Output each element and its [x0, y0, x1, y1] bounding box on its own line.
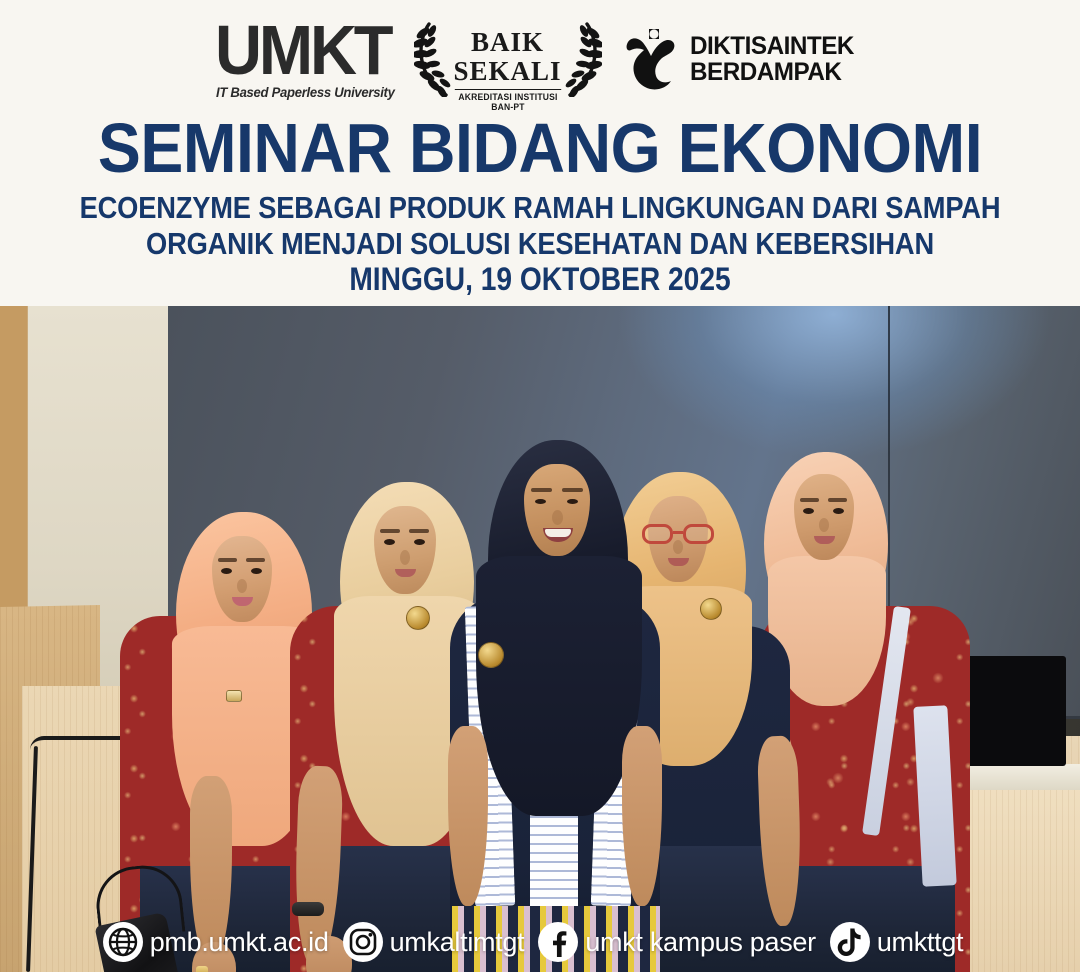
person-1-brow-l2	[218, 558, 237, 562]
event-date: MINGGU, 19 OKTOBER 2025	[65, 262, 1015, 296]
person-2-brooch	[406, 606, 430, 630]
instagram-handle[interactable]: umkaltimtgt	[390, 927, 525, 958]
baik-line2: SEKALI	[452, 58, 564, 85]
umkt-tagline: IT Based Paperless University	[216, 85, 395, 100]
person-2-watch	[292, 902, 324, 916]
person-1-brow-r2	[246, 558, 265, 562]
subtitle-line-2: ORGANIK MENJADI SOLUSI KESEHATAN DAN KEB…	[65, 226, 1015, 261]
person-3-hijab-drape	[476, 556, 642, 816]
person-2-brow-l2	[380, 529, 400, 533]
person-5-eye-l2	[803, 508, 814, 514]
subtitle-line-1: ECOENZYME SEBAGAI PRODUK RAMAH LINGKUNGA…	[65, 190, 1015, 225]
person-2-eye-l2	[384, 539, 395, 545]
diktisaintek-mark-icon	[618, 26, 680, 92]
social-item-tiktok[interactable]: umkttgt	[830, 922, 963, 962]
page-title: SEMINAR BIDANG EKONOMI	[43, 112, 1037, 184]
person-2-mouth2	[395, 569, 416, 577]
website-handle[interactable]: pmb.umkt.ac.id	[150, 927, 329, 958]
event-poster: UMKT IT Based Paperless University	[0, 0, 1080, 972]
person-5-brow-l2	[800, 498, 819, 502]
person-4-brooch	[700, 598, 722, 620]
person-5-eye-r2	[833, 508, 844, 514]
baik-line1: BAIK	[452, 29, 564, 56]
umkt-wordmark: UMKT	[215, 17, 390, 86]
facebook-icon[interactable]	[538, 922, 578, 962]
person-3-brow-right	[562, 488, 583, 492]
social-item-instagram[interactable]: umkaltimtgt	[343, 922, 525, 962]
person-4-glasses-icon	[642, 524, 714, 544]
diktisaintek-text: DIKTISAINTEK BERDAMPAK	[690, 33, 859, 85]
event-photo: pmb.umkt.ac.id umkaltimtgt	[0, 306, 1080, 972]
person-1-eye-l2	[221, 568, 232, 574]
baik-sekali-badge: BAIK SEKALI AKREDITASI INSTITUSI BAN-PT	[412, 15, 604, 103]
person-3-eye-right	[567, 499, 578, 504]
person-5-brow-r2	[828, 498, 847, 502]
person-3-brow-left	[531, 488, 552, 492]
person-1-nose2	[237, 579, 247, 593]
poster-header: UMKT IT Based Paperless University	[0, 0, 1080, 306]
person-1-hijab-pin	[226, 690, 242, 702]
person-3-eye-left	[535, 499, 546, 504]
person-2-brow-r2	[409, 529, 429, 533]
glasses-lens-right	[683, 524, 714, 544]
laurel-wreath-icon	[562, 21, 602, 97]
person-1-mouth2	[232, 597, 253, 606]
person-3-brooch	[478, 642, 504, 668]
social-item-website[interactable]: pmb.umkt.ac.id	[103, 922, 329, 962]
logo-row: UMKT IT Based Paperless University	[0, 14, 1080, 104]
person-1-eye-r2	[251, 568, 262, 574]
person-3-nose	[552, 510, 563, 525]
diktisaintek-line1: DIKTISAINTEK	[690, 33, 854, 59]
person-2-eye-r2	[414, 539, 425, 545]
person-5-mouth2	[814, 536, 835, 544]
laurel-wreath-icon	[414, 21, 454, 97]
globe-icon[interactable]	[103, 922, 143, 962]
instagram-icon[interactable]	[343, 922, 383, 962]
baik-sekali-text: BAIK SEKALI AKREDITASI INSTITUSI BAN-PT	[452, 29, 564, 112]
tiktok-handle[interactable]: umkttgt	[877, 927, 963, 958]
person-3-teeth	[545, 529, 571, 537]
tiktok-icon[interactable]	[830, 922, 870, 962]
social-bar: pmb.umkt.ac.id umkaltimtgt	[0, 922, 1080, 962]
diktisaintek-logo: DIKTISAINTEK BERDAMPAK	[618, 15, 868, 103]
diktisaintek-line2: BERDAMPAK	[690, 59, 854, 85]
facebook-handle[interactable]: umkt kampus paser	[585, 927, 816, 958]
glasses-bridge	[673, 531, 683, 534]
person-5-nose2	[819, 518, 829, 532]
person-4-mouth2	[668, 558, 689, 566]
person-2-nose2	[400, 550, 410, 565]
glasses-lens-left	[642, 524, 673, 544]
person-1-ring	[196, 966, 208, 972]
social-item-facebook[interactable]: umkt kampus paser	[538, 922, 816, 962]
umkt-logo-icon: UMKT IT Based Paperless University	[213, 15, 398, 103]
